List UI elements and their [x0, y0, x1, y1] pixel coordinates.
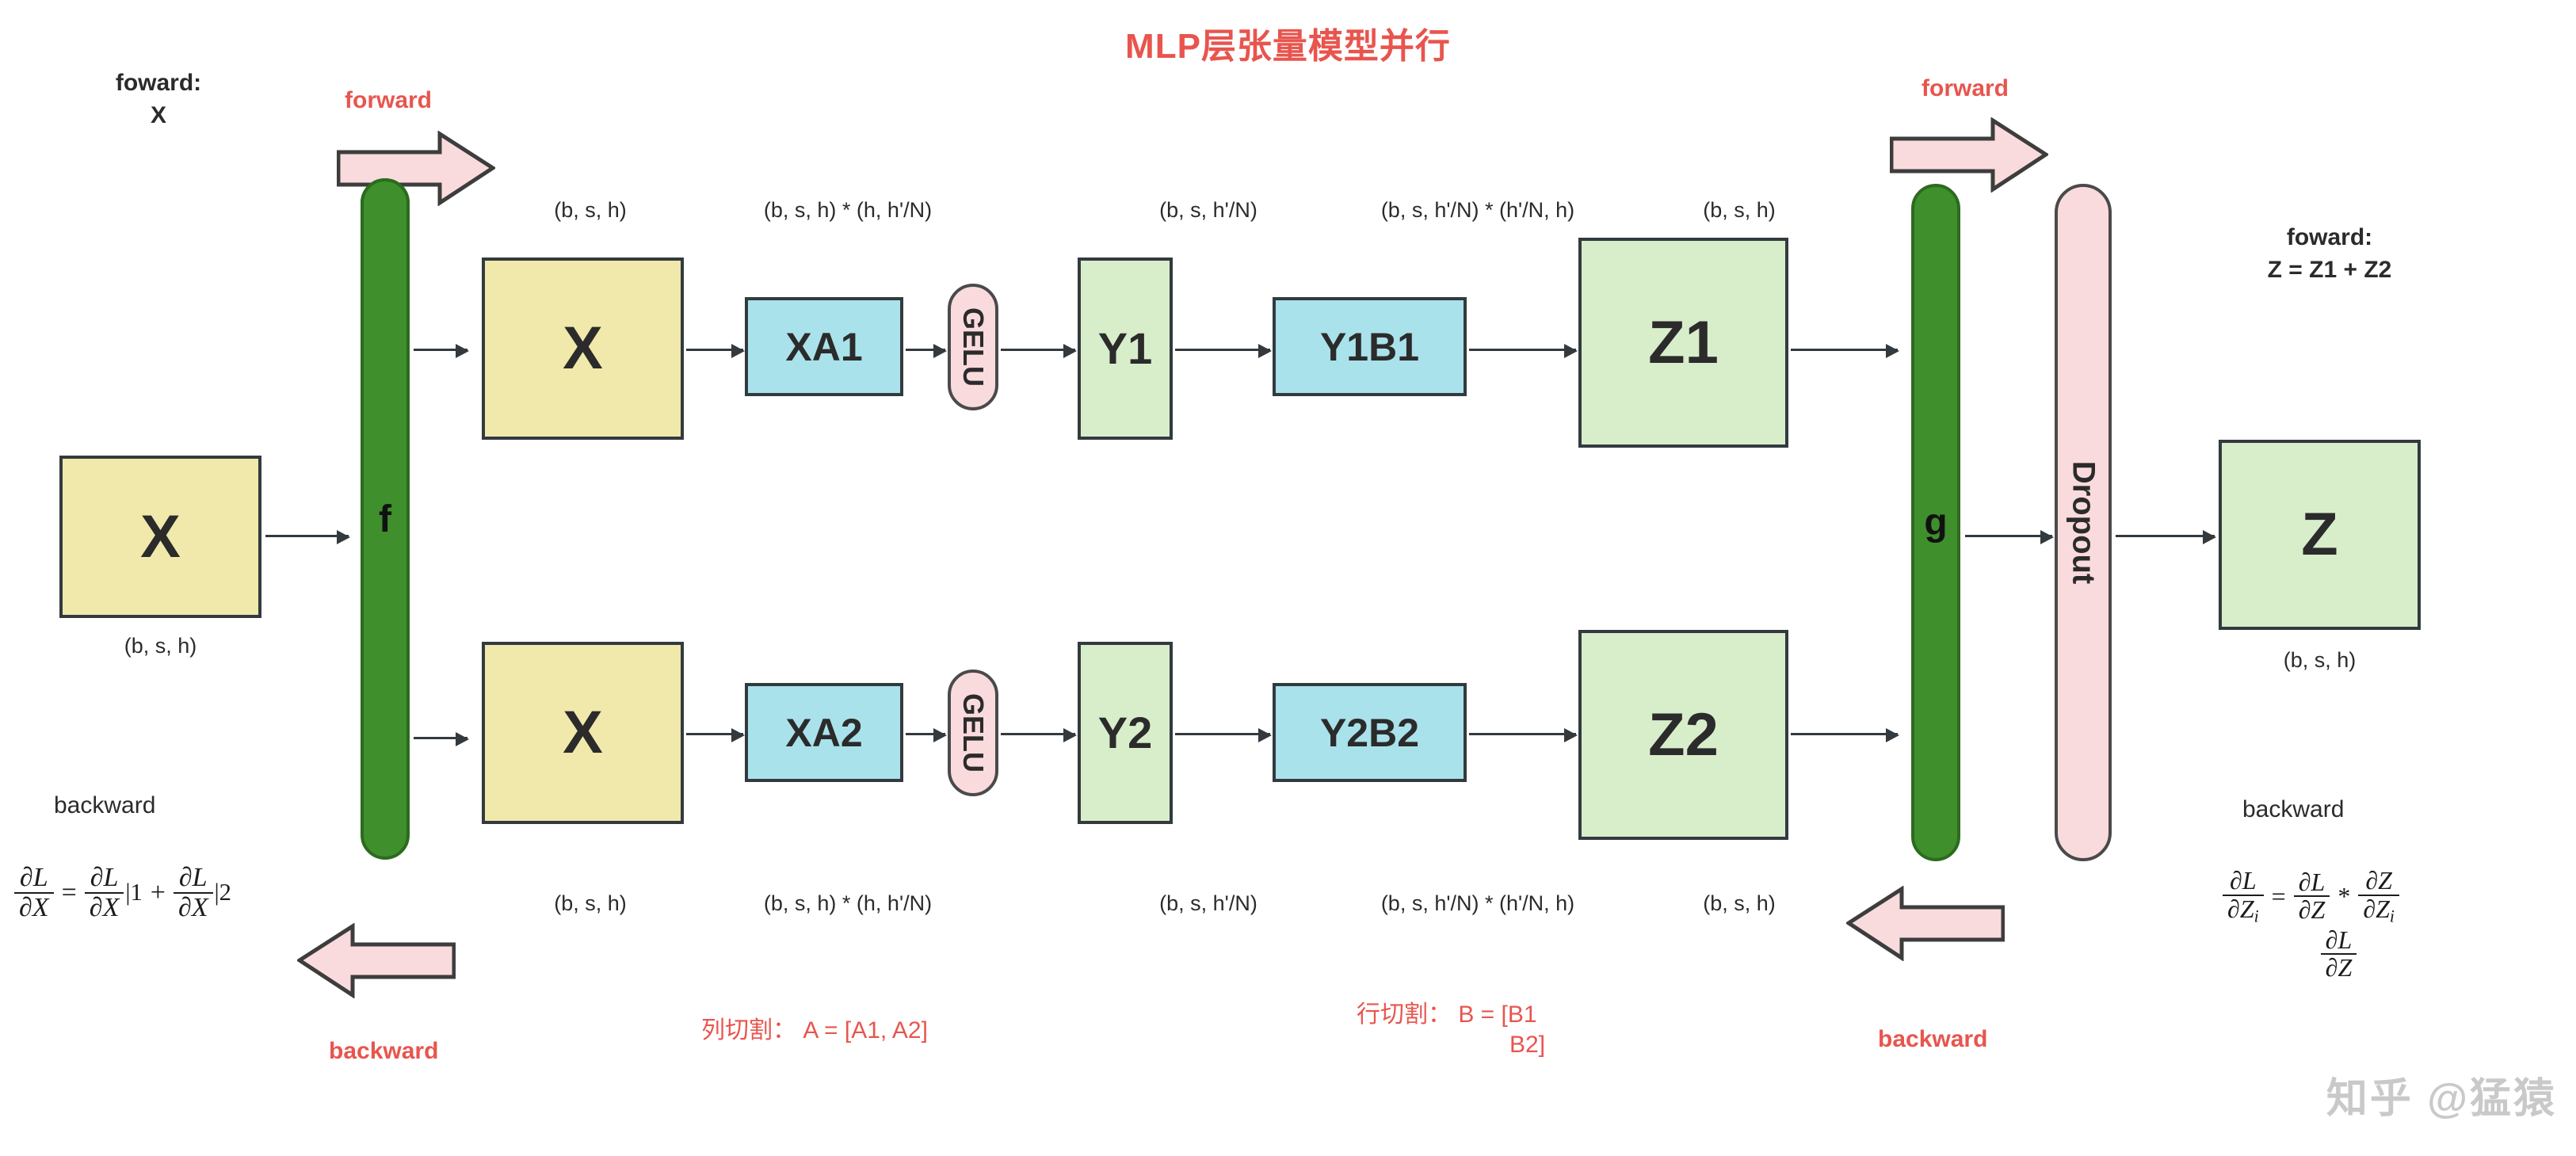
bottom-gelu-pill: GELU: [948, 670, 998, 796]
left-formula-bar2: |2: [213, 879, 231, 906]
f-node: f: [361, 178, 410, 860]
connector-top-gelu-to-y1: [1001, 349, 1075, 351]
input-x-label: X: [140, 507, 181, 567]
bottom-z2-label: Z2: [1648, 705, 1719, 765]
connector-f-to-x-bottom: [414, 737, 467, 739]
top-dim-3: (b, s, h'/N) * (h'/N, h): [1323, 198, 1632, 223]
row-split-note-line2: B2]: [1509, 1032, 1545, 1059]
watermark: 知乎 @猛猿: [2326, 1065, 2557, 1124]
right-forward-arrow-label: forward: [1922, 75, 2009, 102]
connector-bottom-y2-to-y2b2: [1175, 733, 1270, 735]
top-xa1-box: XA1: [745, 297, 903, 396]
bottom-gelu-label: GELU: [956, 693, 990, 773]
connector-top-xa1-to-gelu: [906, 349, 945, 351]
connector-dropout-to-z: [2116, 535, 2215, 537]
top-z1-label: Z1: [1648, 313, 1719, 373]
bottom-dim-4: (b, s, h): [1652, 891, 1826, 916]
left-formula-plus: +: [143, 878, 174, 908]
bottom-x-box: X: [482, 642, 684, 824]
page-title: MLP层张量模型并行: [0, 17, 2576, 68]
bottom-y2b2-label: Y2B2: [1320, 713, 1419, 753]
right-formula-lhs: ∂L ∂Zi: [2223, 868, 2264, 925]
top-y1b1-label: Y1B1: [1320, 327, 1419, 367]
connector-top-y1-to-y1b1: [1175, 349, 1270, 351]
top-dim-1: (b, s, h) * (h, h'/N): [717, 198, 979, 223]
left-backward-formula: ∂L ∂X = ∂L ∂X |1 + ∂L ∂X |2: [14, 864, 231, 921]
g-node-label: g: [1924, 501, 1947, 544]
top-dim-2: (b, s, h'/N): [1109, 198, 1307, 223]
bottom-x-label: X: [563, 703, 603, 763]
left-formula-term1: ∂L ∂X: [85, 864, 124, 921]
right-formula-mul: *: [2330, 882, 2358, 911]
top-dim-0: (b, s, h): [507, 198, 674, 223]
forward-block-arrow-left: [337, 131, 495, 206]
input-x-box: X: [59, 456, 261, 618]
connector-f-to-x-top: [414, 349, 467, 351]
bottom-y2-label: Y2: [1098, 711, 1153, 755]
left-forward-value: X: [55, 100, 261, 132]
bottom-xa2-box: XA2: [745, 683, 903, 782]
right-formula-extra: ∂L ∂Z: [2321, 927, 2357, 982]
f-node-label: f: [379, 498, 391, 541]
connector-bottom-z2-to-g: [1791, 733, 1898, 735]
bottom-dim-2: (b, s, h'/N): [1109, 891, 1307, 916]
forward-block-arrow-right: [1890, 117, 2048, 193]
connector-bottom-y2b2-to-z2: [1469, 733, 1576, 735]
output-z-dim: (b, s, h): [2219, 648, 2421, 673]
right-backward-formula: ∂L ∂Zi = ∂L ∂Z * ∂Z ∂Zi ∂L ∂Z: [2223, 868, 2399, 982]
bottom-dim-1: (b, s, h) * (h, h'/N): [717, 891, 979, 916]
right-formula-term2: ∂Z ∂Zi: [2358, 868, 2399, 925]
top-dim-4: (b, s, h): [1652, 198, 1826, 223]
top-z1-box: Z1: [1578, 238, 1788, 448]
connector-top-x-to-xa1: [686, 349, 743, 351]
output-z-label: Z: [2301, 505, 2337, 565]
top-x-box: X: [482, 258, 684, 440]
right-backward-arrow-label: backward: [1878, 1026, 1987, 1053]
dropout-pill: Dropout: [2055, 184, 2112, 861]
top-xa1-label: XA1: [785, 327, 862, 367]
right-forward-label: foward:: [2211, 222, 2448, 254]
connector-top-z1-to-g: [1791, 349, 1898, 351]
top-y1-label: Y1: [1098, 326, 1153, 371]
backward-block-arrow-left: [297, 923, 456, 998]
connector-top-y1b1-to-z1: [1469, 349, 1576, 351]
right-backward-text: backward: [2242, 796, 2344, 823]
input-x-dim: (b, s, h): [59, 634, 261, 658]
bottom-xa2-label: XA2: [785, 713, 862, 753]
right-forward-note: foward: Z = Z1 + Z2: [2211, 222, 2448, 286]
bottom-dim-0: (b, s, h): [507, 891, 674, 916]
bottom-z2-box: Z2: [1578, 630, 1788, 840]
output-z-box: Z: [2219, 440, 2421, 630]
top-gelu-label: GELU: [956, 307, 990, 387]
left-formula-lhs: ∂L ∂X: [14, 864, 54, 921]
top-x-label: X: [563, 319, 603, 379]
left-forward-note: foward: X: [55, 67, 261, 132]
left-backward-arrow-label: backward: [329, 1038, 438, 1065]
row-split-note-line1: 行切割： B = [B1: [1357, 994, 1537, 1029]
connector-bottom-gelu-to-y2: [1001, 733, 1075, 735]
connector-bottom-xa2-to-gelu: [906, 733, 945, 735]
connector-bottom-x-to-xa2: [686, 733, 743, 735]
connector-g-to-dropout: [1965, 535, 2052, 537]
connector-x-to-f: [265, 535, 349, 537]
column-split-note: 列切割： A = [A1, A2]: [701, 1010, 928, 1045]
bottom-y2-box: Y2: [1078, 642, 1173, 824]
left-formula-equals: =: [54, 878, 85, 908]
right-forward-value: Z = Z1 + Z2: [2211, 254, 2448, 287]
left-backward-text: backward: [54, 792, 155, 819]
left-forward-arrow-label: forward: [345, 87, 432, 114]
backward-block-arrow-right: [1846, 886, 2005, 961]
left-formula-term2: ∂L ∂X: [174, 864, 213, 921]
top-y1b1-box: Y1B1: [1273, 297, 1467, 396]
left-forward-label: foward:: [55, 67, 261, 100]
bottom-y2b2-box: Y2B2: [1273, 683, 1467, 782]
g-node: g: [1911, 184, 1960, 861]
right-formula-equals: =: [2264, 882, 2294, 911]
dropout-label: Dropout: [2066, 461, 2101, 585]
left-formula-bar1: |1: [124, 879, 142, 906]
bottom-dim-3: (b, s, h'/N) * (h'/N, h): [1323, 891, 1632, 916]
top-y1-box: Y1: [1078, 258, 1173, 440]
right-formula-term1: ∂L ∂Z: [2294, 869, 2330, 924]
top-gelu-pill: GELU: [948, 284, 998, 410]
